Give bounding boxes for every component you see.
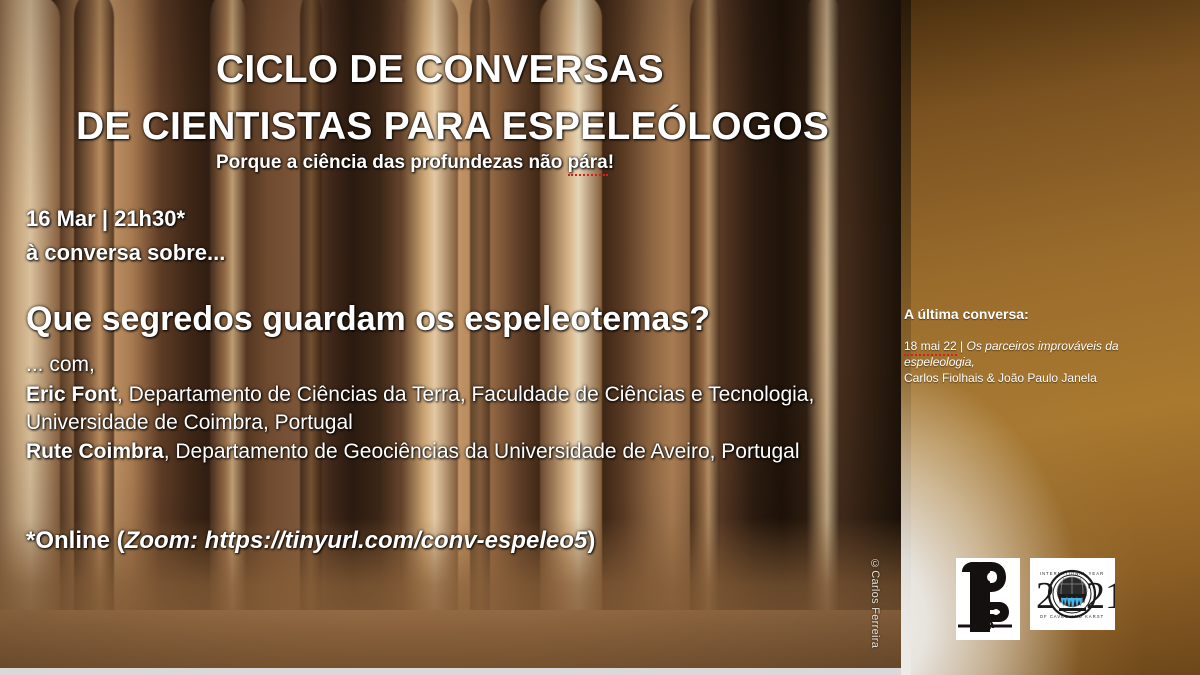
poster-title-line-2: DE CIENTISTAS PARA ESPELEÓLOGOS (76, 105, 829, 149)
previous-talk-speakers: Carlos Fiolhais & João Paulo Janela (904, 371, 1097, 385)
speaker-name: Eric Font (26, 383, 117, 406)
svg-text:OF CAVES AND KARST: OF CAVES AND KARST (1040, 614, 1105, 619)
sidebar-previous-talk: 18 mai 22 | Os parceiros improváveis da … (904, 338, 1192, 386)
poster-title-line-1: CICLO DE CONVERSAS (216, 48, 664, 92)
poster-canvas: CICLO DE CONVERSAS DE CIENTISTAS PARA ES… (0, 0, 1200, 675)
speaker-affiliation: , Departamento de Ciências da Terra, Fac… (117, 383, 814, 406)
iyck-2021-logo: 2 21 INTERNATIONAL YEAR OF CAVES AND KAR… (1030, 558, 1115, 630)
previous-talk-date: 18 mai 22 (904, 339, 957, 356)
sidebar-heading: A última conversa: (904, 306, 1029, 322)
event-date-time: 16 Mar | 21h30* (26, 206, 185, 232)
online-access-line[interactable]: *Online (Zoom: https://tinyurl.com/conv-… (26, 527, 595, 555)
speaker-line-1: Eric Font, Departamento de Ciências da T… (26, 383, 814, 407)
poster-subtitle: Porque a ciência das profundezas não pár… (216, 152, 614, 174)
event-lead-in: à conversa sobre... (26, 240, 225, 266)
speaker-name: Rute Coimbra (26, 440, 164, 463)
online-suffix: ) (587, 527, 595, 554)
speaker-line-3: Rute Coimbra, Departamento de Geociência… (26, 440, 800, 464)
speaker-affiliation-cont: Universidade de Coimbra, Portugal (26, 411, 353, 434)
subtitle-prefix: Porque a ciência das profundezas não (216, 152, 568, 173)
speakers-intro-label: ... com, (26, 353, 95, 377)
zoom-meeting-link[interactable]: https://tinyurl.com/conv-espeleo5 (205, 527, 588, 554)
subtitle-misspelled-word: pára (568, 152, 608, 176)
bottom-strip (0, 668, 901, 675)
photo-credit: ©Carlos Ferreira (869, 558, 881, 648)
speaker-line-2: Universidade de Coimbra, Portugal (26, 411, 353, 435)
logo-row: 2 21 INTERNATIONAL YEAR OF CAVES AND KAR… (956, 558, 1115, 640)
previous-talk-separator: | (957, 339, 967, 353)
online-prefix: *Online ( (26, 527, 125, 554)
speaker-affiliation: , Departamento de Geociências da Univers… (164, 440, 800, 463)
svg-text:INTERNATIONAL YEAR: INTERNATIONAL YEAR (1040, 571, 1104, 576)
subtitle-suffix: ! (608, 152, 614, 173)
talk-question-title: Que segredos guardam os espeleotemas? (26, 300, 710, 339)
fpe-logo (956, 558, 1020, 640)
online-platform-label: Zoom: (125, 527, 205, 554)
